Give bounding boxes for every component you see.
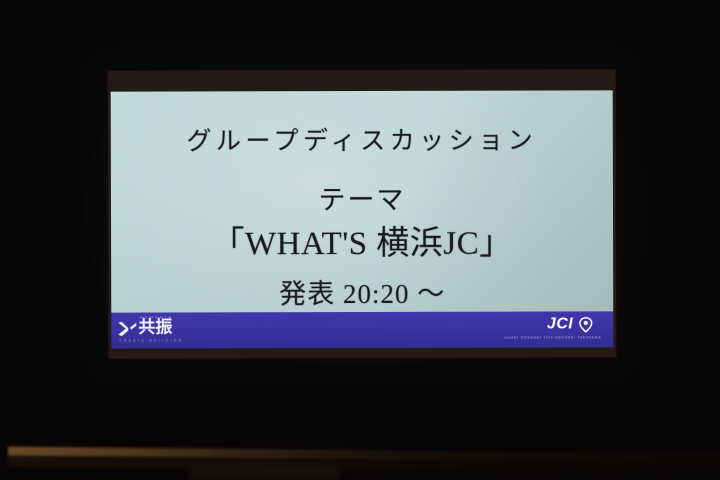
slide-content: グループディスカッション テーマ 「WHAT'S 横浜JC」 発表 20:20 …	[111, 90, 614, 306]
jci-pin-icon	[578, 316, 593, 333]
photograph-of-projected-slide: グループディスカッション テーマ 「WHAT'S 横浜JC」 発表 20:20 …	[0, 0, 720, 480]
projection-screen: グループディスカッション テーマ 「WHAT'S 横浜JC」 発表 20:20 …	[108, 69, 617, 358]
stage-edge-highlight	[8, 447, 720, 463]
stage-edge-shadow	[8, 455, 720, 474]
slide-heading: グループディスカッション	[111, 128, 613, 154]
presentation-time: 発表 20:20 〜	[111, 280, 613, 308]
jci-wordmark: JCI	[547, 316, 573, 332]
theme-value: 「WHAT'S 横浜JC」	[111, 227, 613, 261]
jci-tagline: Junior Chamber International Yokohama	[504, 335, 601, 339]
slide-footer-bar: KYOSHIN 共振 CREATE BUILDING JCI J	[111, 311, 613, 348]
jci-logo: JCI Junior Chamber International Yokoham…	[469, 315, 601, 343]
theme-label: テーマ	[111, 186, 613, 214]
slide-surface: グループディスカッション テーマ 「WHAT'S 横浜JC」 発表 20:20 …	[111, 90, 614, 348]
sponsor-logo-kyoshin: KYOSHIN 共振 CREATE BUILDING	[117, 315, 267, 345]
kyoshin-x-mark-icon	[117, 321, 137, 338]
sponsor-logo-sub-text: CREATE BUILDING	[119, 338, 183, 342]
sponsor-logo-kanji: 共振	[138, 319, 172, 336]
foreground-object	[190, 466, 340, 480]
